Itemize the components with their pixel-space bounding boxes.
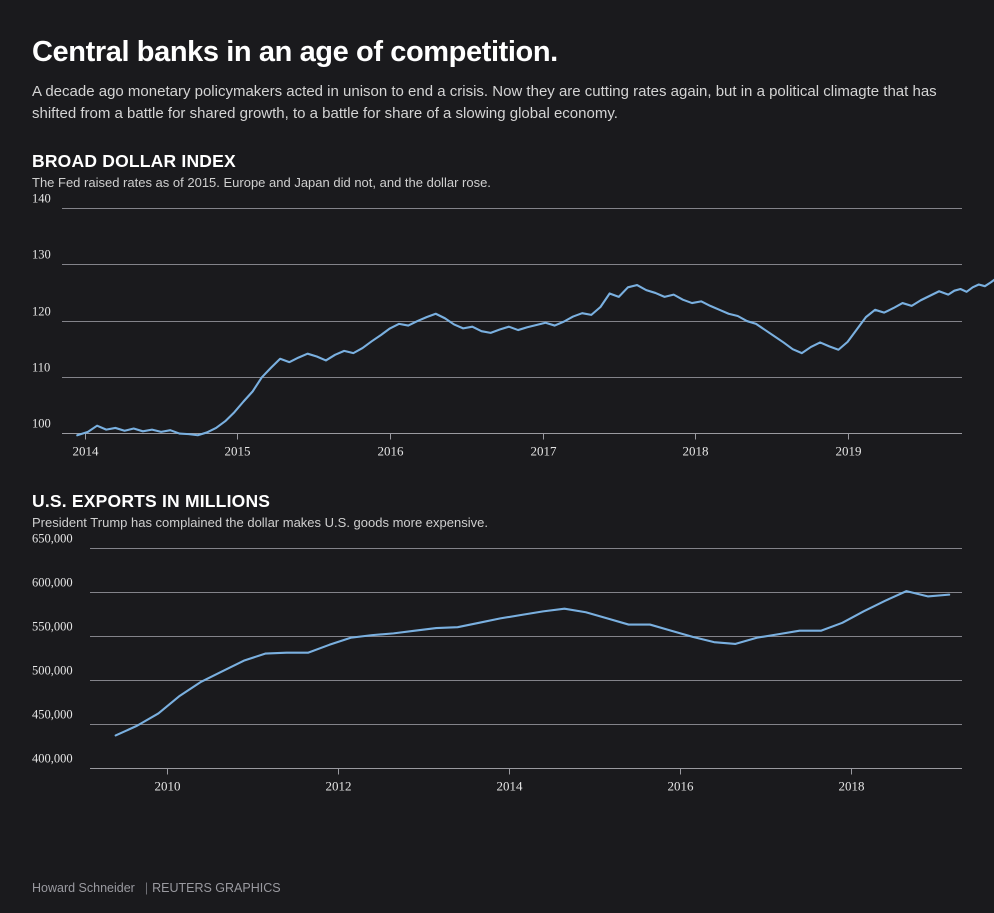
chart-block-broad-dollar-index: BROAD DOLLAR INDEX The Fed raised rates … xyxy=(32,151,962,471)
x-axis-tick-label: 2015 xyxy=(225,444,251,459)
y-axis-tick-label: 120 xyxy=(32,305,51,319)
chart-subtitle-us-exports: President Trump has complained the dolla… xyxy=(32,515,962,530)
x-axis-tick-label: 2014 xyxy=(497,779,524,794)
y-axis-tick-label: 140 xyxy=(32,192,51,206)
footer-credit: Howard Schneider | REUTERS GRAPHICS xyxy=(32,881,281,895)
x-axis-tick-label: 2017 xyxy=(531,444,558,459)
byline: Howard Schneider xyxy=(32,881,135,895)
chart-svg-broad-dollar-index: 140130120110100201420152016201720182019 xyxy=(32,196,962,471)
x-axis-tick-label: 2010 xyxy=(155,779,181,794)
x-axis-tick-label: 2016 xyxy=(378,444,405,459)
x-axis-tick-label: 2016 xyxy=(668,779,695,794)
data-line-broad-dollar-index xyxy=(77,268,994,436)
footer-separator: | xyxy=(135,881,152,895)
chart-title-us-exports: U.S. EXPORTS IN MILLIONS xyxy=(32,491,962,512)
chart-subtitle-broad-dollar-index: The Fed raised rates as of 2015. Europe … xyxy=(32,175,962,190)
x-axis-tick-label: 2018 xyxy=(683,444,709,459)
y-axis-tick-label: 130 xyxy=(32,248,51,262)
y-axis-tick-label: 450,000 xyxy=(32,708,73,722)
x-axis-tick-label: 2018 xyxy=(839,779,865,794)
y-axis-tick-label: 500,000 xyxy=(32,664,73,678)
page-title: Central banks in an age of competition. xyxy=(32,0,962,69)
data-line-us-exports-in-millions xyxy=(116,591,950,735)
plot-area-broad-dollar-index: 140130120110100201420152016201720182019 xyxy=(32,196,962,471)
plot-area-us-exports: 650,000600,000550,000500,000450,000400,0… xyxy=(32,536,962,806)
brand-label: REUTERS GRAPHICS xyxy=(152,881,281,895)
y-axis-tick-label: 600,000 xyxy=(32,576,73,590)
x-axis-tick-label: 2014 xyxy=(73,444,100,459)
y-axis-tick-label: 400,000 xyxy=(32,752,73,766)
y-axis-tick-label: 650,000 xyxy=(32,532,73,546)
y-axis-tick-label: 550,000 xyxy=(32,620,73,634)
chart-title-broad-dollar-index: BROAD DOLLAR INDEX xyxy=(32,151,962,172)
x-axis-tick-label: 2012 xyxy=(326,779,352,794)
chart-svg-us-exports: 650,000600,000550,000500,000450,000400,0… xyxy=(32,536,962,806)
standfirst-text: A decade ago monetary policymakers acted… xyxy=(32,81,952,125)
y-axis-tick-label: 110 xyxy=(32,361,50,375)
y-axis-tick-label: 100 xyxy=(32,417,51,431)
x-axis-tick-label: 2019 xyxy=(836,444,862,459)
chart-block-us-exports: U.S. EXPORTS IN MILLIONS President Trump… xyxy=(32,491,962,806)
infographic-page: Central banks in an age of competition. … xyxy=(0,0,994,913)
